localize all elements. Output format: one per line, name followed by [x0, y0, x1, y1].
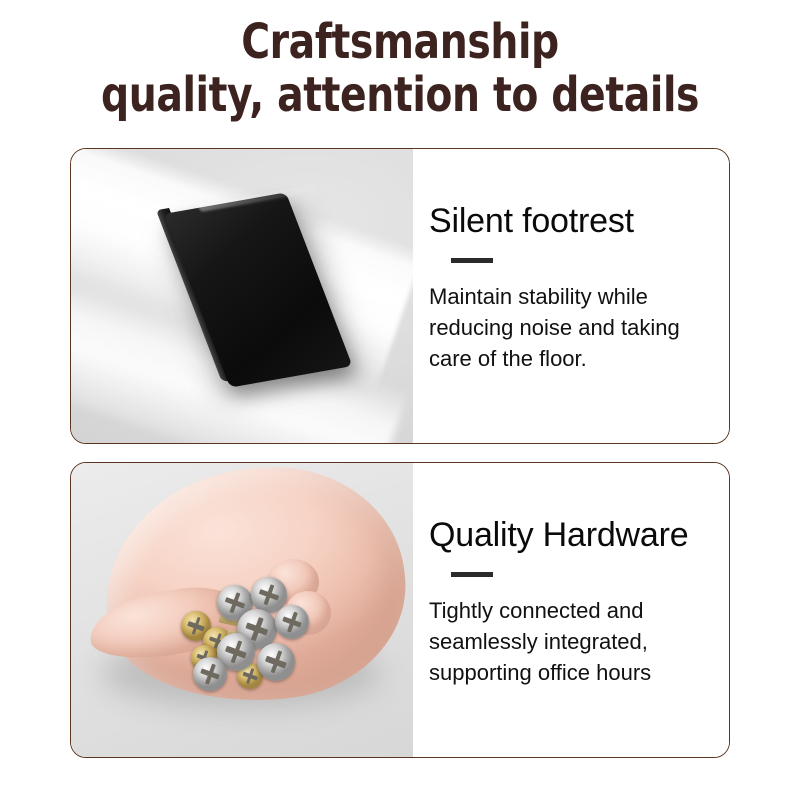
- feature-text-panel: Silent footrest Maintain stability while…: [413, 149, 729, 443]
- feature-card-quality-hardware[interactable]: Quality Hardware Tightly connected and s…: [70, 462, 730, 758]
- feature-title: Silent footrest: [429, 203, 729, 239]
- screw-silver: [193, 657, 227, 691]
- product-photo-backdrop: [71, 463, 413, 757]
- page-title-line-2: quality, attention to details: [72, 69, 728, 122]
- product-photo-backdrop: [71, 149, 413, 443]
- screw-cluster: [179, 571, 317, 693]
- title-divider: [451, 258, 493, 263]
- footrest-product-image: [71, 149, 413, 443]
- feature-title: Quality Hardware: [429, 517, 729, 553]
- feature-text-panel: Quality Hardware Tightly connected and s…: [413, 463, 729, 757]
- hardware-product-image: [71, 463, 413, 757]
- page-title-line-1: Craftsmanship: [72, 16, 728, 69]
- feature-description: Tightly connected and seamlessly integra…: [429, 595, 721, 688]
- feature-card-list: Silent footrest Maintain stability while…: [70, 148, 730, 776]
- screw-silver: [275, 605, 309, 639]
- feature-card-silent-footrest[interactable]: Silent footrest Maintain stability while…: [70, 148, 730, 444]
- title-divider: [451, 572, 493, 577]
- page-title: Craftsmanship quality, attention to deta…: [72, 0, 728, 122]
- screw-silver: [257, 643, 295, 681]
- feature-description: Maintain stability while reducing noise …: [429, 281, 721, 374]
